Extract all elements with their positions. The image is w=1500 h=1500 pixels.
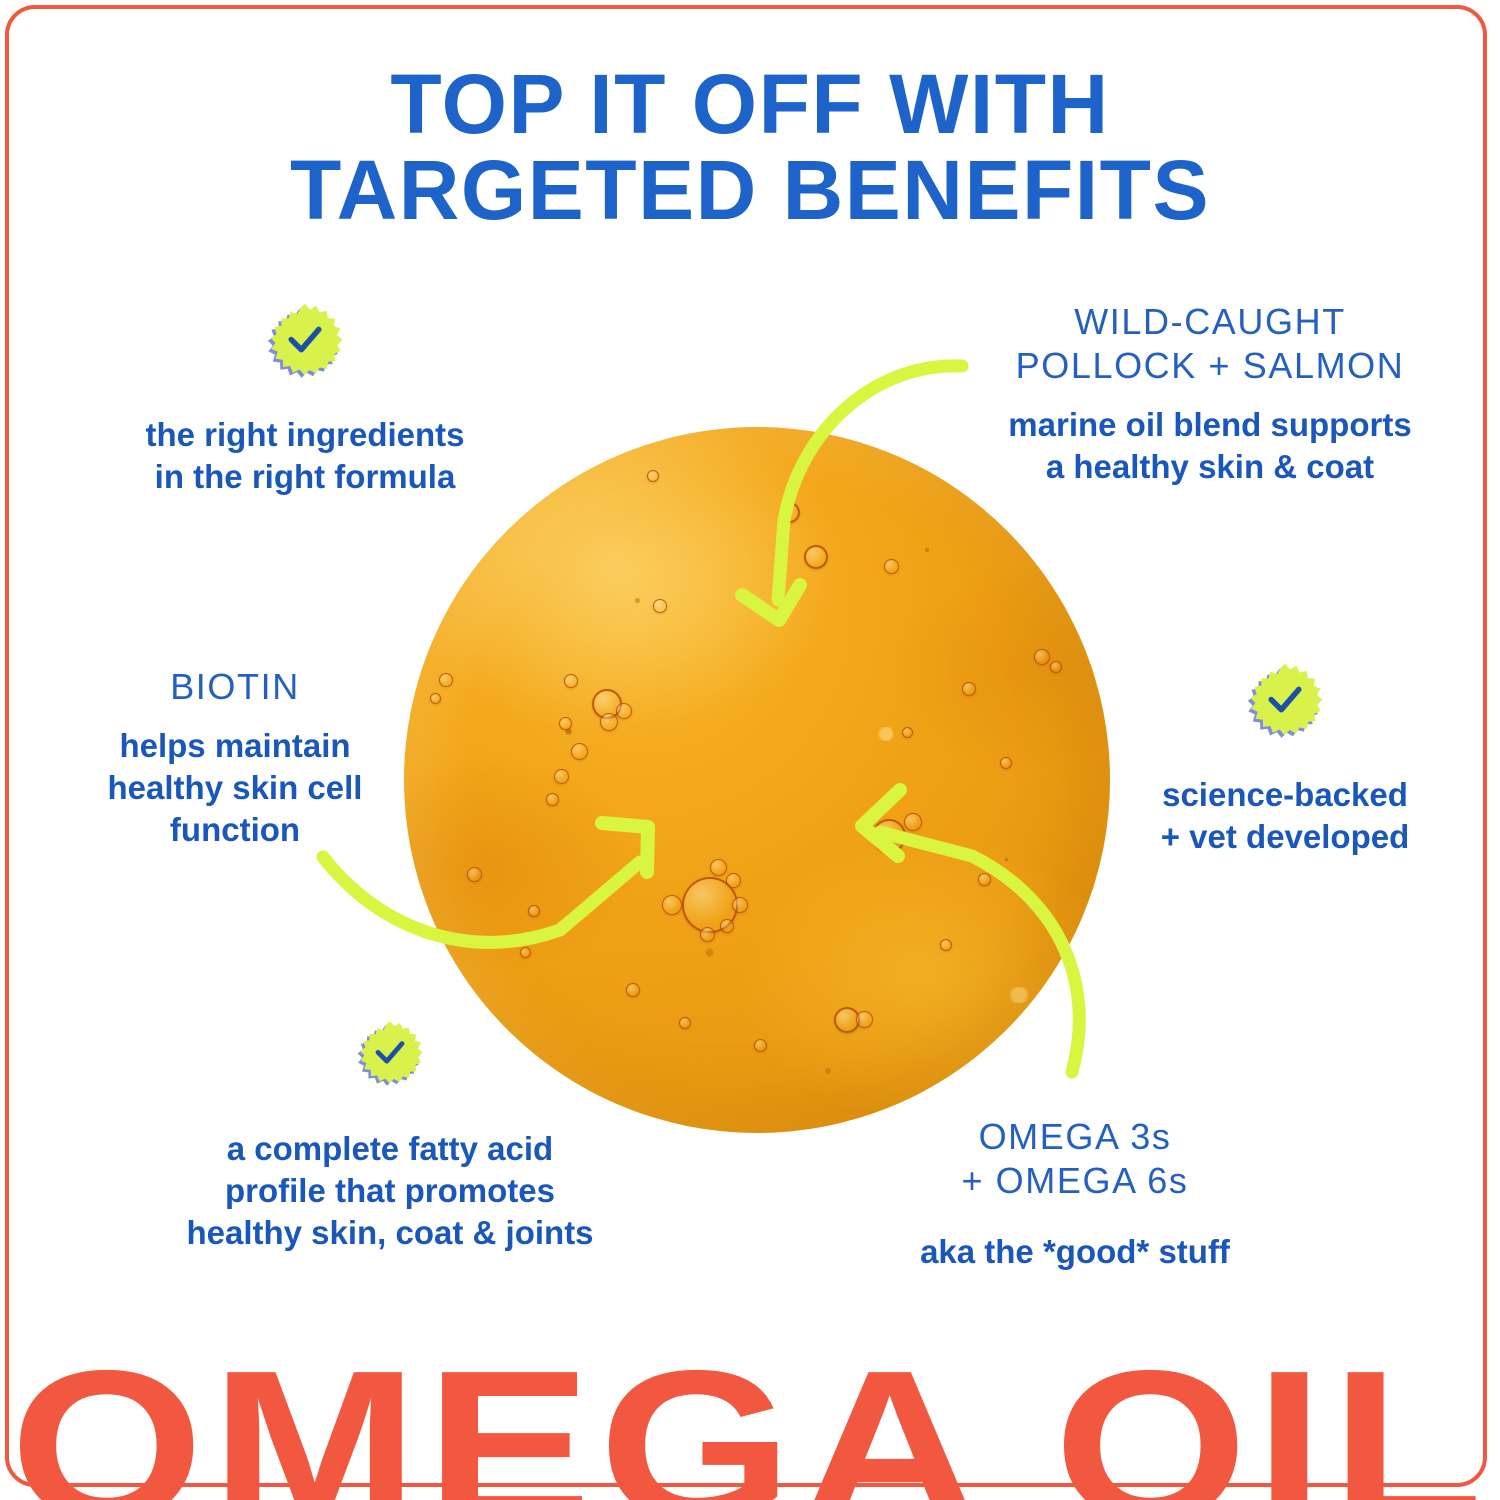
oil-bubble: [679, 1017, 691, 1029]
oil-bubble: [467, 867, 482, 882]
callout-top-left-body: the right ingredients in the right formu…: [60, 414, 550, 498]
callout-mid-left: BIOTIN helps maintain healthy skin cell …: [55, 665, 415, 852]
callout-top-right: WILD-CAUGHT POLLOCK + SALMON marine oil …: [955, 300, 1465, 488]
callout-top-right-body: marine oil blend supports a healthy skin…: [955, 404, 1465, 488]
infographic-canvas: TOP IT OFF WITH TARGETED BENEFITS: [0, 0, 1500, 1500]
oil-bubble: [700, 927, 715, 942]
oil-bubble: [884, 559, 899, 574]
oil-bubble: [653, 599, 667, 613]
oil-bubble: [978, 873, 991, 886]
oil-bubble: [726, 873, 741, 888]
callout-bottom-right-heading: OMEGA 3s + OMEGA 6s: [855, 1115, 1295, 1203]
oil-bubble: [940, 939, 952, 951]
callout-bottom-right: OMEGA 3s + OMEGA 6s aka the *good* stuff: [855, 1115, 1295, 1273]
callout-mid-right-body: science-backed + vet developed: [1090, 774, 1480, 858]
oil-bubble: [710, 859, 727, 876]
oil-bubble: [559, 717, 572, 730]
check-badge-icon: [350, 1018, 430, 1098]
callout-top-left: the right ingredients in the right formu…: [60, 300, 550, 498]
oil-bubble: [856, 1011, 873, 1028]
oil-bubble: [872, 819, 906, 853]
oil-bubble: [647, 470, 659, 482]
oil-bubble: [626, 983, 640, 997]
oil-bubble: [564, 674, 578, 688]
callout-bottom-right-body: aka the *good* stuff: [855, 1231, 1295, 1273]
check-badge-icon: [1239, 660, 1331, 752]
callout-bottom-left-body: a complete fatty acid profile that promo…: [130, 1128, 650, 1255]
oil-bubble: [600, 713, 618, 731]
oil-bubble: [720, 919, 734, 933]
oil-bubble: [904, 813, 922, 831]
oil-bubble: [662, 895, 682, 915]
callout-top-right-heading: WILD-CAUGHT POLLOCK + SALMON: [955, 300, 1465, 388]
oil-bubble: [1050, 661, 1062, 673]
page-title: TOP IT OFF WITH TARGETED BENEFITS: [0, 62, 1500, 233]
oil-bubble: [546, 793, 559, 806]
oil-bubble: [528, 905, 540, 917]
oil-bubble: [732, 897, 748, 913]
oil-bubble: [1034, 649, 1050, 665]
check-badge-icon: [259, 300, 351, 392]
callout-mid-left-heading: BIOTIN: [55, 665, 415, 709]
oil-bubble: [439, 673, 453, 687]
oil-bubble: [902, 727, 913, 738]
oil-bubble: [571, 743, 588, 760]
callout-mid-right: science-backed + vet developed: [1090, 660, 1480, 858]
oil-bubble: [962, 682, 976, 696]
oil-bubble: [554, 769, 569, 784]
oil-bubble: [520, 947, 531, 958]
callout-bottom-left: a complete fatty acid profile that promo…: [130, 1018, 650, 1255]
oil-bubble: [779, 502, 800, 523]
oil-bubble: [804, 545, 828, 569]
omega-oil-wordmark: OMEGA OIL: [0, 1338, 1500, 1500]
oil-bubble: [430, 693, 441, 704]
oil-bubble: [754, 1039, 767, 1052]
oil-bubble: [1000, 757, 1012, 769]
oil-bubble: [616, 703, 632, 719]
callout-mid-left-body: helps maintain healthy skin cell functio…: [55, 725, 415, 852]
